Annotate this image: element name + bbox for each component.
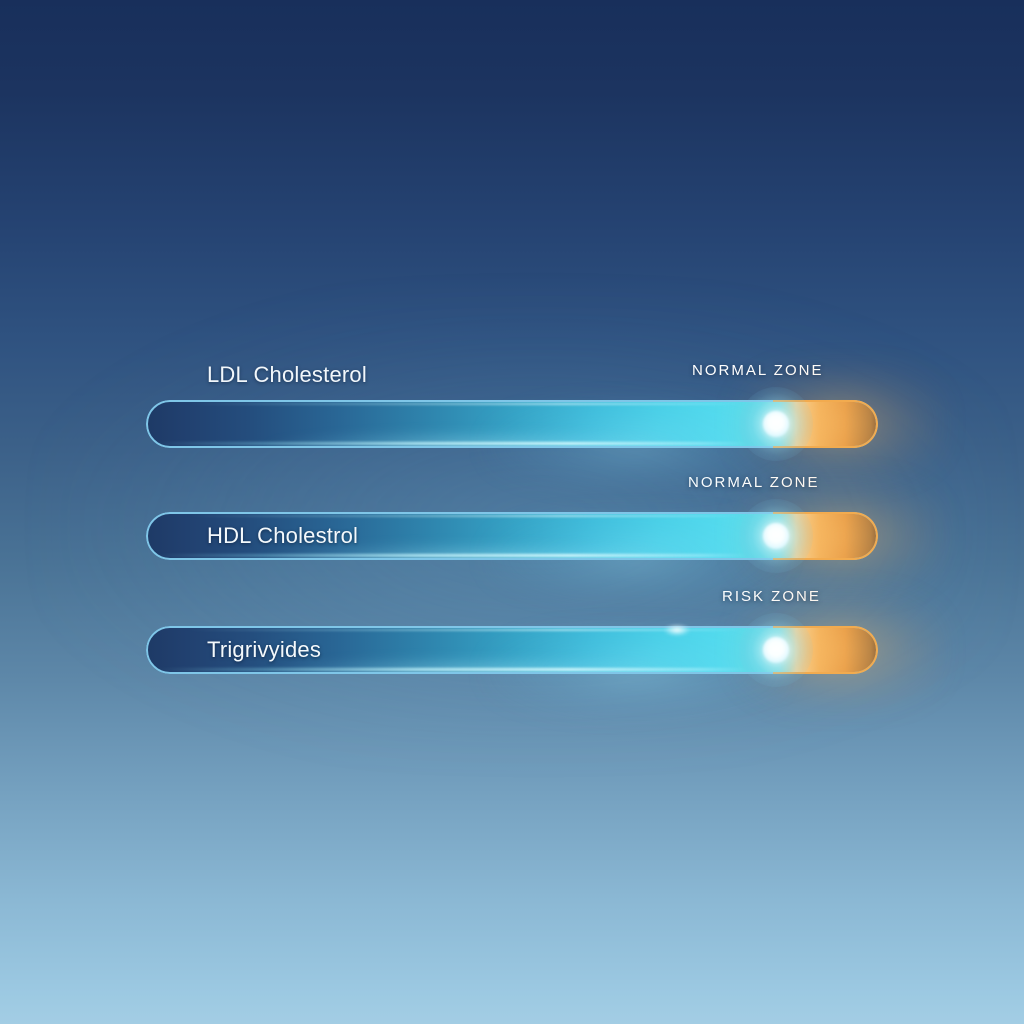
fill-sheen — [266, 656, 686, 674]
meter-list: LDL CholesterolNORMAL ZONEHDL Cholestrol… — [0, 0, 1024, 1024]
meter-label-hdl: HDL Cholestrol — [207, 523, 358, 549]
fill-top-highlight — [186, 515, 743, 517]
meter-label-triglycerides: Trigrivyides — [207, 637, 321, 663]
health-meters-canvas: LDL CholesterolNORMAL ZONEHDL Cholestrol… — [0, 0, 1024, 1024]
meter-row: TrigrivyidesRISK ZONE — [146, 626, 878, 674]
zone-label-hdl: NORMAL ZONE — [688, 474, 819, 491]
meter-row: HDL CholestrolNORMAL ZONE — [146, 512, 878, 560]
fill-top-highlight — [186, 403, 743, 405]
fill-bottom-highlight — [156, 442, 748, 445]
fill-bottom-highlight — [156, 668, 748, 671]
fill-sheen — [266, 430, 686, 448]
zone-label-triglycerides: RISK ZONE — [722, 588, 821, 605]
meter-track-ldl[interactable] — [146, 400, 878, 448]
fill-top-highlight — [186, 629, 743, 631]
meter-label-ldl: LDL Cholesterol — [207, 362, 367, 388]
meter-track-hdl[interactable]: HDL Cholestrol — [146, 512, 878, 560]
zone-label-ldl: NORMAL ZONE — [692, 362, 823, 379]
meter-track-triglycerides[interactable]: Trigrivyides — [146, 626, 878, 674]
fill-bottom-highlight — [156, 554, 748, 557]
meter-row: LDL CholesterolNORMAL ZONE — [146, 400, 878, 448]
